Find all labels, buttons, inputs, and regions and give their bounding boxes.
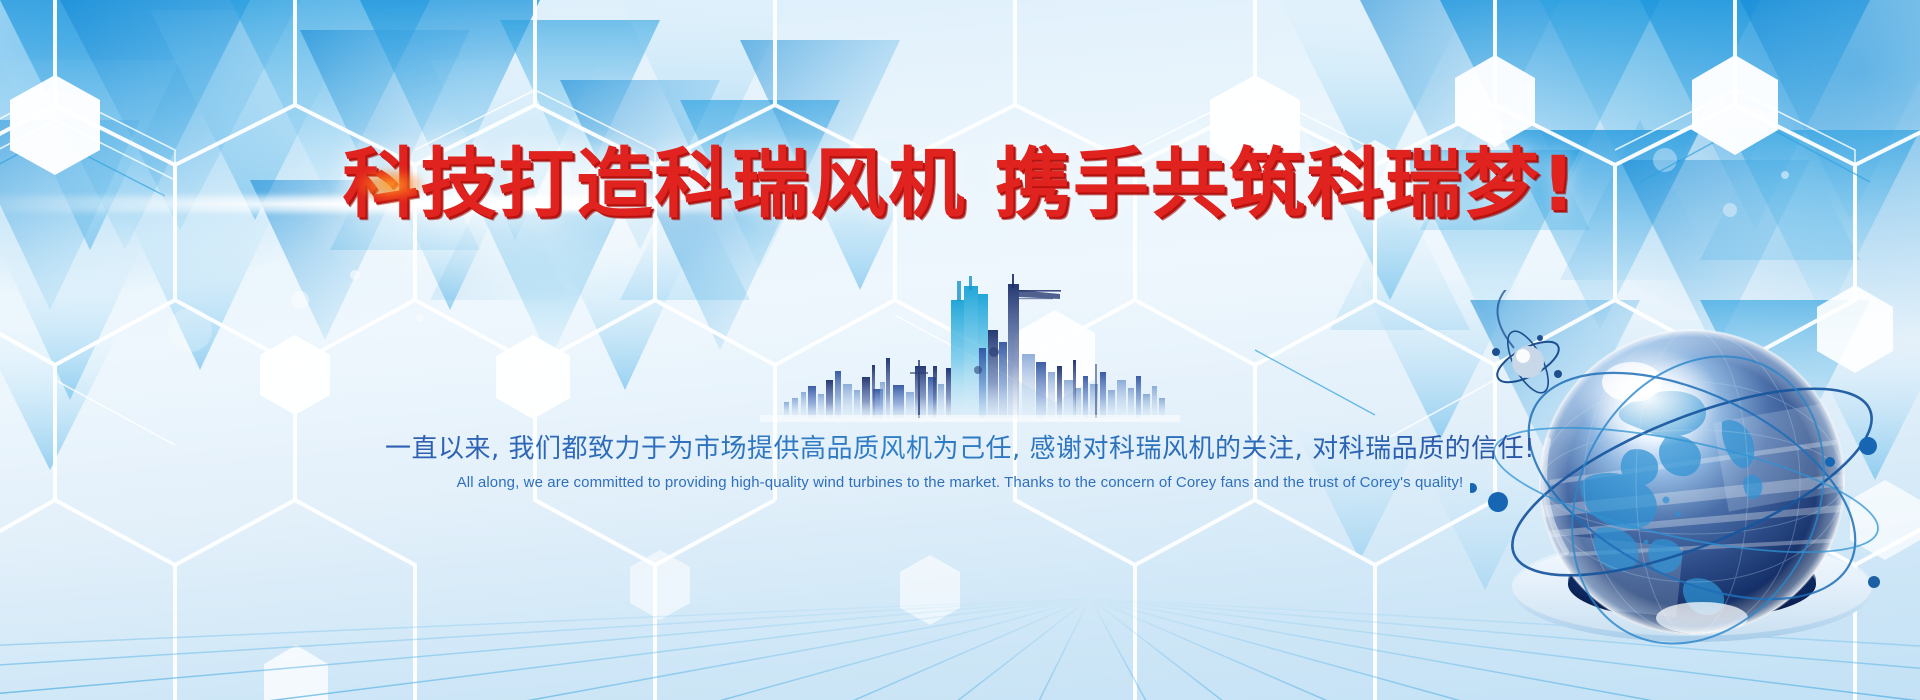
city-skyline-silhouette <box>760 272 1180 422</box>
subtitle-english: All along, we are committed to providing… <box>0 474 1920 491</box>
page-title: 科技打造科瑞风机 携手共筑科瑞梦! <box>0 122 1920 232</box>
subtitle-chinese: 一直以来, 我们都致力于为市场提供高品质风机为己任, 感谢对科瑞风机的关注, 对… <box>0 428 1920 465</box>
orange-flare-icon <box>355 168 425 202</box>
glass-globe-graphic <box>1470 290 1920 700</box>
hero-banner: 科技打造科瑞风机 携手共筑科瑞梦! 一直以来, 我们都致力于为市场提供高品质风机… <box>0 0 1920 700</box>
headline-text: 科技打造科瑞风机 携手共筑科瑞梦! <box>342 139 1577 228</box>
